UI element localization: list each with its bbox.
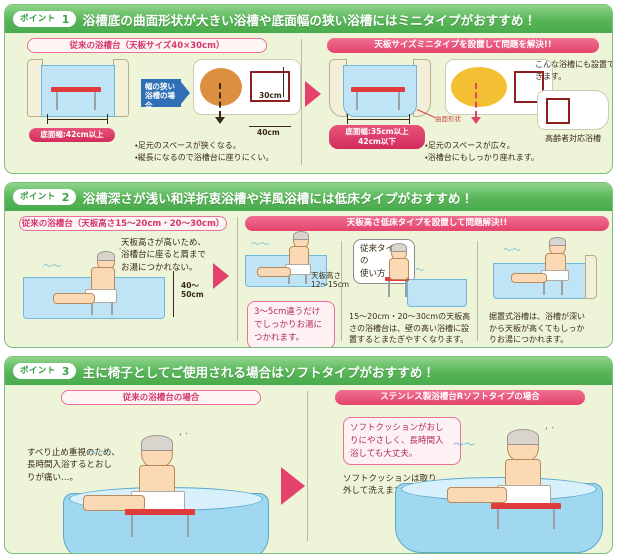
- section-1-header: ポイント 1 浴槽底の曲面形状が大きい浴槽や底面幅の狭い浴槽にはミニタイプがおす…: [5, 5, 612, 33]
- tub-side-view-s2-b: 〜: [385, 267, 471, 311]
- tub-side-view-s2-c: 〜〜: [493, 251, 603, 305]
- section-1-right-caption: 天板サイズミニタイプを設置して問題を解決!!: [327, 38, 599, 53]
- section-2-title: 浴槽深さが浅い和洋折衷浴槽や洋風浴槽には低床タイプがおすすめ！: [83, 188, 474, 207]
- point-badge-label-3: ポイント: [20, 367, 56, 376]
- transition-arrow-2: [213, 263, 229, 289]
- tub-depth-dim-s2-left: [173, 271, 174, 317]
- section-1-title: 浴槽底の曲面形状が大きい浴槽や底面幅の狭い浴槽にはミニタイプがおすすめ！: [83, 10, 537, 29]
- point-badge-label-2: ポイント: [20, 193, 56, 202]
- tub-side-view-left: [27, 59, 137, 125]
- bottom-width-tick-right: [107, 114, 108, 124]
- section-1-body: 従来の浴槽台（天板サイズ40×30cm） 底面幅:42cm以上 幅の狭い 浴槽の…: [5, 33, 612, 173]
- transition-arrow-3: [281, 467, 305, 505]
- section-point-1: ポイント 1 浴槽底の曲面形状が大きい浴槽や底面幅の狭い浴槽にはミニタイプがおす…: [4, 4, 613, 174]
- point-badge-number-2: 2: [59, 190, 73, 204]
- infographic-page: ポイント 1 浴槽底の曲面形状が大きい浴槽や底面幅の狭い浴槽にはミニタイプがおす…: [0, 0, 617, 560]
- platform-leg-right-2: [398, 92, 400, 110]
- tub-wall-right: [113, 59, 129, 117]
- steam-s2-c: 〜〜: [503, 247, 521, 256]
- bather-hair-s2-left: [97, 251, 115, 261]
- platform-leg-s2-a2: [305, 275, 307, 284]
- point-badge-2: ポイント 2: [13, 189, 76, 205]
- section-3-title: 主に椅子としてご使用される場合はソフトタイプがおすすめ！: [83, 362, 435, 381]
- section-3-right-caption: ステンレス製浴槽台Rソフトタイプの場合: [335, 390, 585, 405]
- tub-3d-view-right: 〜〜 ʻ ˋ: [395, 447, 609, 554]
- section-2-divider: [237, 217, 238, 341]
- section-3-header: ポイント 3 主に椅子としてご使用される場合はソフトタイプがおすすめ！: [5, 357, 612, 385]
- section-2-divider-3: [477, 241, 478, 341]
- bottom-width-tag-left: 底面幅:42cm以上: [29, 128, 115, 142]
- center-arrow-right: [471, 117, 481, 124]
- plate-height-label-left: 30cm: [259, 91, 282, 100]
- bather-legs-right-3: [447, 487, 507, 503]
- section-3-divider: [307, 391, 308, 541]
- section-2-body: 従来の浴槽台（天板高さ15〜20cm・20〜30cm） 天板高さが高いため、 浴…: [5, 211, 612, 347]
- seat-area-ellipse-right: [451, 67, 507, 107]
- top-view-plate-left: [193, 59, 301, 115]
- bather-hair-left-3: [141, 435, 173, 451]
- bath-platform-right-3: [491, 503, 561, 509]
- thought-right-3: ʻ ˋ: [545, 427, 555, 437]
- steam-s2-b: 〜: [415, 267, 424, 276]
- platform-leg-left-2: [356, 92, 358, 110]
- steam-s2-left: 〜〜: [43, 263, 61, 272]
- bather-legs-s2-c: [511, 273, 547, 283]
- section-3-left-caption: 従来の浴槽台の場合: [61, 390, 261, 405]
- tub-side-view-right: [329, 59, 439, 125]
- platform-leg-s2-b2: [405, 281, 407, 297]
- section-1-extra-text: こんな浴槽にも設置できます。: [535, 59, 613, 82]
- section-2-header: ポイント 2 浴槽深さが浅い和洋折衷浴槽や洋風浴槽には低床タイプがおすすめ！: [5, 183, 612, 211]
- bather-legs-s2-left: [53, 293, 95, 304]
- steam-s2-a: 〜〜: [251, 241, 269, 250]
- bath-platform-top-2: [351, 87, 405, 92]
- platform-leg-left-3b: [187, 515, 189, 537]
- seat-area-ellipse-left: [200, 68, 242, 106]
- plate-width-dim-left: [249, 126, 291, 127]
- platform-leg-left-3a: [131, 515, 133, 537]
- bottom-width-tick-left: [47, 114, 48, 124]
- plate-height-dim-left: [283, 67, 284, 97]
- transition-arrow-1: [305, 81, 321, 107]
- bottom-width-dimension-line: [47, 119, 107, 120]
- platform-leg-right-3b: [553, 509, 555, 529]
- plate-width-label-left: 40cm: [257, 128, 280, 137]
- point-badge-1: ポイント 1: [13, 11, 76, 27]
- elderly-tub-plate: [537, 90, 609, 130]
- platform-leg-s2-r: [111, 301, 113, 315]
- bather-hair-right-3: [507, 429, 539, 445]
- bather-hair-s2-b: [391, 243, 407, 252]
- section-2-note-right: 据置式浴槽は、浴槽が深い から天板が高くてもしっか りお湯につかれます。: [489, 311, 613, 346]
- thought-left-3: ʻ ˋ: [179, 433, 189, 443]
- thought-bubble-s2-left: ʻ ˋ: [119, 247, 127, 255]
- bather-hair-s2-a: [293, 231, 309, 240]
- section-1-left-notes: ・足元のスペースが狭くなる。 ・縦長になるので浴槽台に座りにくい。: [135, 140, 305, 163]
- platform-leg-s2-c1: [543, 281, 545, 295]
- bather-body-s2-b: [389, 258, 409, 280]
- tub-side-view-s2-left: 〜〜 ʻ ˋ: [23, 267, 183, 323]
- point-badge-number: 1: [59, 12, 73, 26]
- section-point-3: ポイント 3 主に椅子としてご使用される場合はソフトタイプがおすすめ！ 従来の浴…: [4, 356, 613, 554]
- plate-height-label-s2-a: 天板高さ 12〜15cm: [311, 271, 349, 289]
- platform-leg-left: [56, 92, 58, 110]
- section-point-2: ポイント 2 浴槽深さが浅い和洋折衷浴槽や洋風浴槽には低床タイプがおすすめ！ 従…: [4, 182, 613, 348]
- tub-water-s2-b: [407, 279, 467, 307]
- bather-legs-s2-a: [257, 267, 291, 277]
- bottom-width-tag-right: 底面幅:35cm以上 42cm以下: [329, 125, 425, 149]
- section-2-left-caption: 従来の浴槽台（天板高さ15〜20cm・20〜30cm）: [19, 216, 227, 231]
- tub-wall-s2-c: [585, 255, 597, 299]
- point-badge-number-3: 3: [59, 364, 73, 378]
- point-badge-3: ポイント 3: [13, 363, 76, 379]
- center-dashed-line-left: [219, 83, 221, 117]
- section-2-note-mid: 15〜20cm・20〜30cmの天板高 さの浴槽台は、壁の高い浴槽に設 置すると…: [349, 311, 473, 346]
- platform-leg-right: [94, 92, 96, 110]
- center-dashed-line-right: [475, 83, 477, 117]
- platform-leg-right-3a: [497, 509, 499, 529]
- tub-depth-label-s2-left: 40〜 50cm: [181, 281, 204, 299]
- section-2-bubble: 3〜5cm違うだけ でしっかりお湯に つかれます。: [247, 301, 335, 348]
- narrow-tub-arrow: 幅の狭い 浴槽の場合: [141, 79, 181, 107]
- section-1-extra-caption: 高齢者対応浴槽: [537, 133, 609, 144]
- tub-3d-view-left: 〜〜 ʻ ˋ: [63, 477, 275, 554]
- steam-left-3: 〜〜: [87, 447, 109, 458]
- elderly-tub-platform: [546, 98, 570, 124]
- bottom-width-dimension-line-2: [347, 119, 409, 120]
- platform-leg-s2-c2: [561, 281, 563, 295]
- center-arrow-left: [215, 117, 225, 124]
- section-1-left-caption: 従来の浴槽台（天板サイズ40×30cm）: [27, 38, 267, 53]
- section-2-divider-2: [341, 241, 342, 341]
- steam-right-3: 〜〜: [453, 439, 475, 450]
- point-badge-label: ポイント: [20, 15, 56, 24]
- bottom-width-tick-right-2: [409, 114, 410, 124]
- bath-platform-left-3: [125, 509, 195, 515]
- bather-hair-s2-c: [549, 237, 566, 246]
- section-3-body: 従来の浴槽台の場合 すべり止め重視のため、 長時間入浴するとおし りが痛い…。 …: [5, 385, 612, 553]
- platform-leg-s2-b1: [388, 281, 390, 297]
- bottom-width-tick-left-2: [347, 114, 348, 124]
- section-2-right-caption: 天板高さ低床タイプを設置して問題解決!!: [245, 216, 609, 231]
